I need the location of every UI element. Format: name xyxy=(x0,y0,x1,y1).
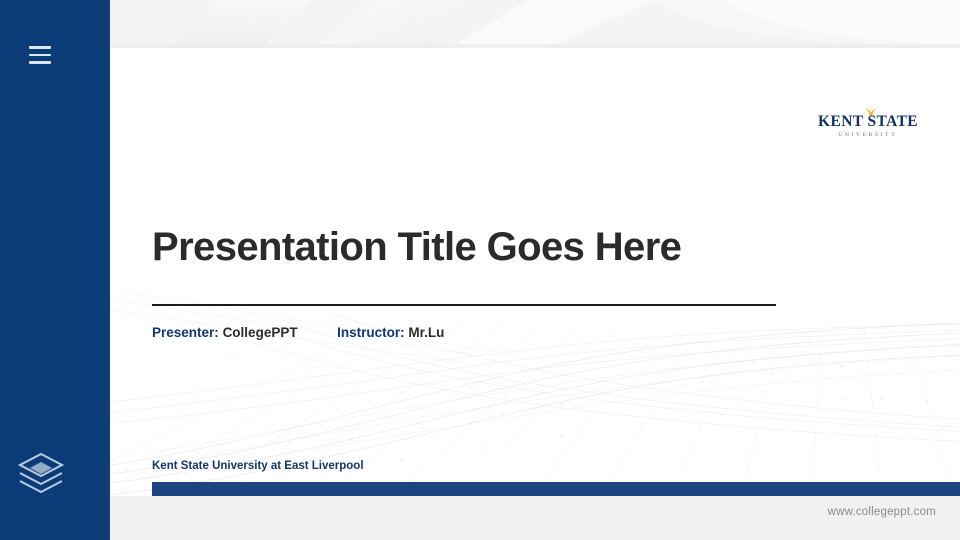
hamburger-line xyxy=(29,46,51,49)
slide-footer-text: Kent State University at East Liverpool xyxy=(152,460,364,472)
logo-subtitle: UNIVERSITY xyxy=(818,132,918,138)
title-divider xyxy=(152,304,776,306)
sidebar-edge-highlight xyxy=(104,0,110,540)
logo-wordmark: KENT STATE xyxy=(818,114,918,130)
hamburger-line xyxy=(29,54,51,57)
layers-stack-icon[interactable] xyxy=(16,450,66,498)
page-title: Presentation Title Goes Here xyxy=(152,225,681,270)
slide-accent-bar xyxy=(152,482,960,496)
hamburger-line xyxy=(29,61,51,64)
hamburger-menu-icon[interactable] xyxy=(29,46,51,64)
kent-state-logo: KENT STATE UNIVERSITY xyxy=(818,114,918,138)
presenter-value: CollegePPT xyxy=(223,325,298,340)
instructor-label: Instructor: xyxy=(337,325,405,340)
instructor-value: Mr.Lu xyxy=(408,325,444,340)
sunburst-icon xyxy=(864,108,878,116)
left-sidebar xyxy=(0,0,110,540)
byline: Presenter: CollegePPT Instructor: Mr.Lu xyxy=(152,325,444,340)
presentation-slide[interactable]: KENT STATE UNIVERSITY Presentation Title… xyxy=(82,48,960,496)
website-label: www.collegeppt.com xyxy=(828,506,936,518)
presenter-label: Presenter: xyxy=(152,325,219,340)
